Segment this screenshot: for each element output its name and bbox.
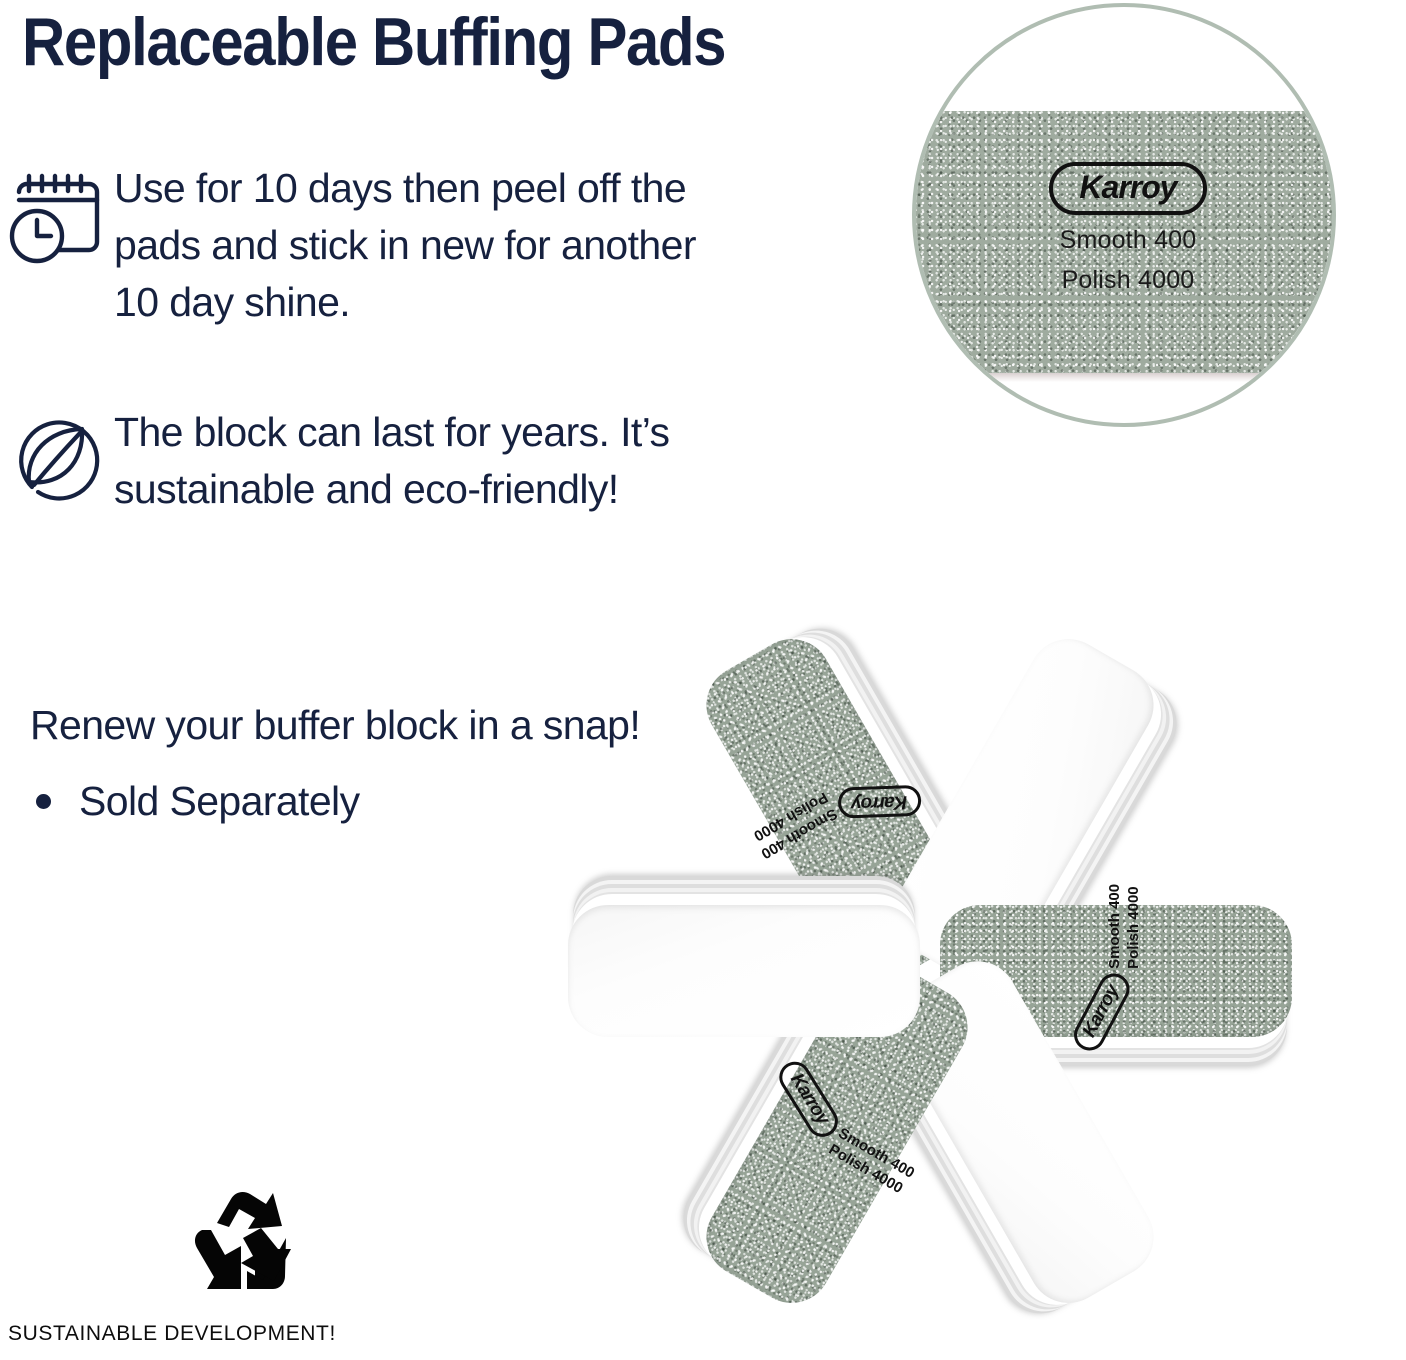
bullet-list: Sold Separately [36, 775, 359, 827]
feature-row-schedule: Use for 10 days then peel off the pads a… [2, 160, 724, 331]
feature-row-eco: The block can last for years. It’s susta… [2, 404, 724, 518]
closeup-pad-edge [912, 373, 1336, 382]
grit-smooth-label: Smooth 400 [1105, 884, 1124, 969]
page-title: Replaceable Buffing Pads [22, 2, 725, 82]
calendar-clock-icon [2, 160, 114, 270]
grit-polish-label: Polish 4000 [1124, 884, 1143, 969]
sustainability-label: SUSTAINABLE DEVELOPMENT! [8, 1322, 336, 1346]
list-item: Sold Separately [36, 775, 359, 827]
leaf-circle-icon [2, 404, 114, 510]
renew-heading: Renew your buffer block in a snap! [30, 700, 640, 750]
bullet-dot-icon [36, 794, 51, 809]
pad-grit-stack: Smooth 400 Polish 4000 [1105, 884, 1143, 969]
feature-text-schedule: Use for 10 days then peel off the pads a… [114, 160, 724, 331]
karroy-logo: Karroy [837, 785, 921, 819]
grit-smooth-label: Smooth 400 [916, 226, 1336, 255]
recycle-icon [181, 1185, 309, 1308]
feature-text-eco: The block can last for years. It’s susta… [114, 404, 724, 518]
karroy-logo: Karroy [1049, 162, 1206, 215]
list-item-label: Sold Separately [79, 775, 359, 827]
product-closeup-inset: Karroy Smooth 400 Polish 4000 [912, 3, 1336, 427]
sustainability-footer [85, 1185, 405, 1308]
pad-branding: Karroy Smooth 400 Polish 4000 [745, 782, 922, 826]
closeup-branding: Karroy Smooth 400 Polish 4000 [916, 162, 1336, 295]
pad-top-surface [568, 905, 920, 1037]
buffing-pad-white [568, 905, 920, 1037]
grit-polish-label: Polish 4000 [916, 266, 1336, 295]
infographic-page: Replaceable Buffing Pads Use for 10 days… [0, 0, 1406, 1360]
